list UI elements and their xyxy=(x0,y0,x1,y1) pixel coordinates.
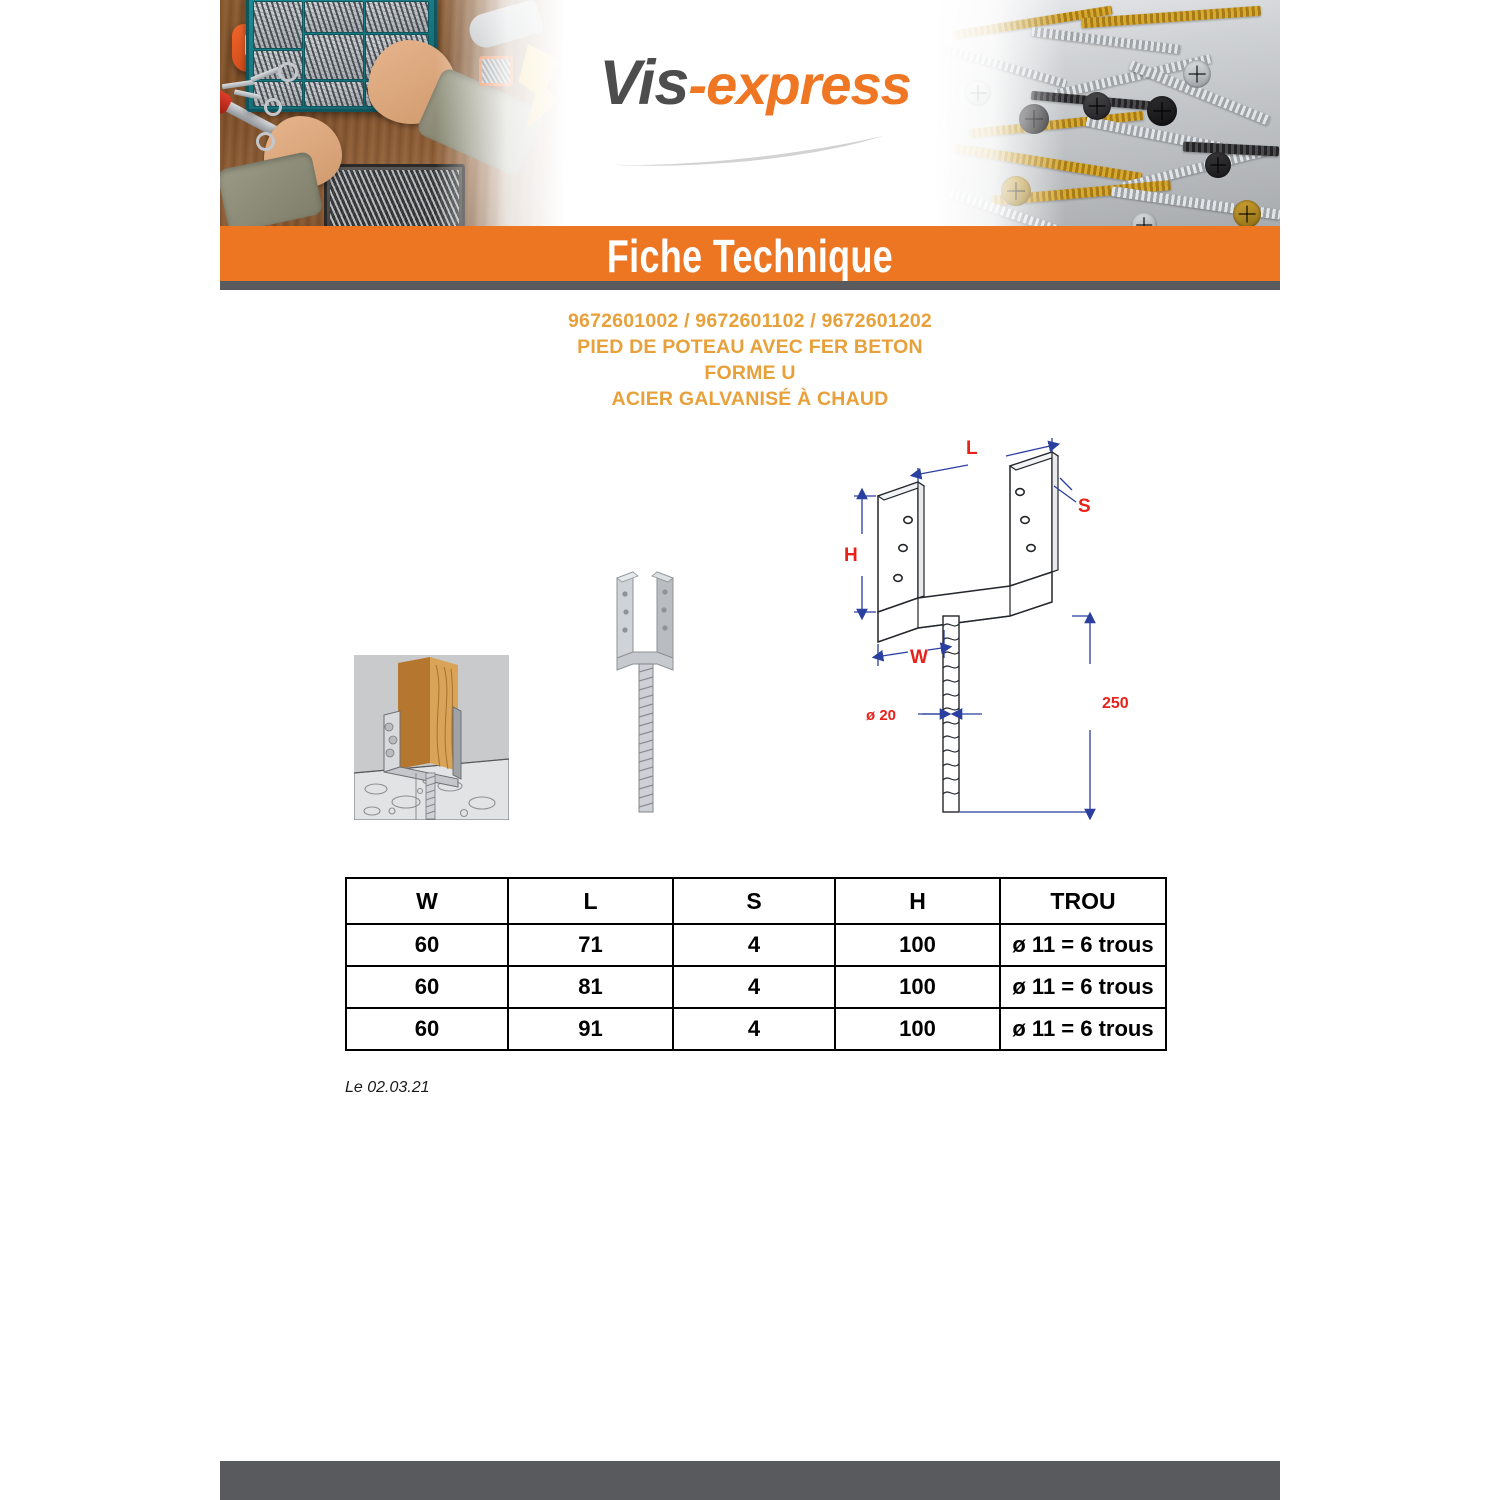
label-S: S xyxy=(1078,496,1091,517)
cell-l: 81 xyxy=(508,966,673,1008)
cell-w: 60 xyxy=(346,966,508,1008)
column-header-l: L xyxy=(508,878,673,924)
product-shape: FORME U xyxy=(220,360,1280,386)
table-row: 60 71 4 100 ø 11 = 6 trous xyxy=(346,924,1166,966)
product-title-block: 9672601002 / 9672601102 / 9672601202 PIE… xyxy=(220,308,1280,412)
technical-dimension-drawing: L H W S 250 ø 20 xyxy=(840,430,1200,820)
specification-table: W L S H TROU 60 71 4 100 ø 11 = 6 trous … xyxy=(345,877,1167,1051)
cell-trou: ø 11 = 6 trous xyxy=(1000,924,1166,966)
cell-h: 100 xyxy=(835,966,1000,1008)
logo-wordmark: Vis-express xyxy=(555,52,955,115)
cell-s: 4 xyxy=(673,924,835,966)
cell-w: 60 xyxy=(346,924,508,966)
product-illustrations: L H W S 250 ø 20 xyxy=(220,430,1280,850)
workbench-hardware-photo xyxy=(220,0,565,226)
screws-pile-photo xyxy=(935,0,1280,226)
cell-h: 100 xyxy=(835,924,1000,966)
label-rebar-diameter: ø 20 xyxy=(866,707,896,724)
fiche-technique-banner: Fiche Technique xyxy=(220,226,1280,281)
cell-l: 91 xyxy=(508,1008,673,1050)
column-header-h: H xyxy=(835,878,1000,924)
table-header-row: W L S H TROU xyxy=(346,878,1166,924)
cell-w: 60 xyxy=(346,1008,508,1050)
banner-title: Fiche Technique xyxy=(337,229,1164,283)
table-row: 60 91 4 100 ø 11 = 6 trous xyxy=(346,1008,1166,1050)
product-material: ACIER GALVANISÉ À CHAUD xyxy=(220,386,1280,412)
cell-h: 100 xyxy=(835,1008,1000,1050)
installation-illustration xyxy=(354,655,509,820)
cell-l: 71 xyxy=(508,924,673,966)
logo-swoosh-icon xyxy=(597,134,887,168)
small-orange-box xyxy=(479,56,513,86)
cell-s: 4 xyxy=(673,1008,835,1050)
cell-trou: ø 11 = 6 trous xyxy=(1000,1008,1166,1050)
datasheet-page: Vis-express Fiche Technique 9672601002 /… xyxy=(0,0,1500,1500)
column-header-trou: TROU xyxy=(1000,878,1166,924)
document-date: Le 02.03.21 xyxy=(345,1079,430,1097)
column-header-s: S xyxy=(673,878,835,924)
logo-express-text: -express xyxy=(688,53,910,116)
label-H: H xyxy=(844,545,858,566)
screws-tray xyxy=(324,164,465,226)
product-photo xyxy=(595,560,705,820)
label-rebar-length: 250 xyxy=(1102,695,1129,712)
product-references: 9672601002 / 9672601102 / 9672601202 xyxy=(220,308,1280,334)
product-name: PIED DE POTEAU AVEC FER BETON xyxy=(220,334,1280,360)
brand-logo: Vis-express xyxy=(555,52,955,182)
cell-s: 4 xyxy=(673,966,835,1008)
footer-bar xyxy=(220,1461,1280,1500)
column-header-w: W xyxy=(346,878,508,924)
cell-trou: ø 11 = 6 trous xyxy=(1000,966,1166,1008)
label-W: W xyxy=(910,647,928,668)
logo-vis-text: Vis xyxy=(599,48,688,118)
table-row: 60 81 4 100 ø 11 = 6 trous xyxy=(346,966,1166,1008)
banner-bottom-strip xyxy=(220,281,1280,290)
label-L: L xyxy=(966,438,978,459)
